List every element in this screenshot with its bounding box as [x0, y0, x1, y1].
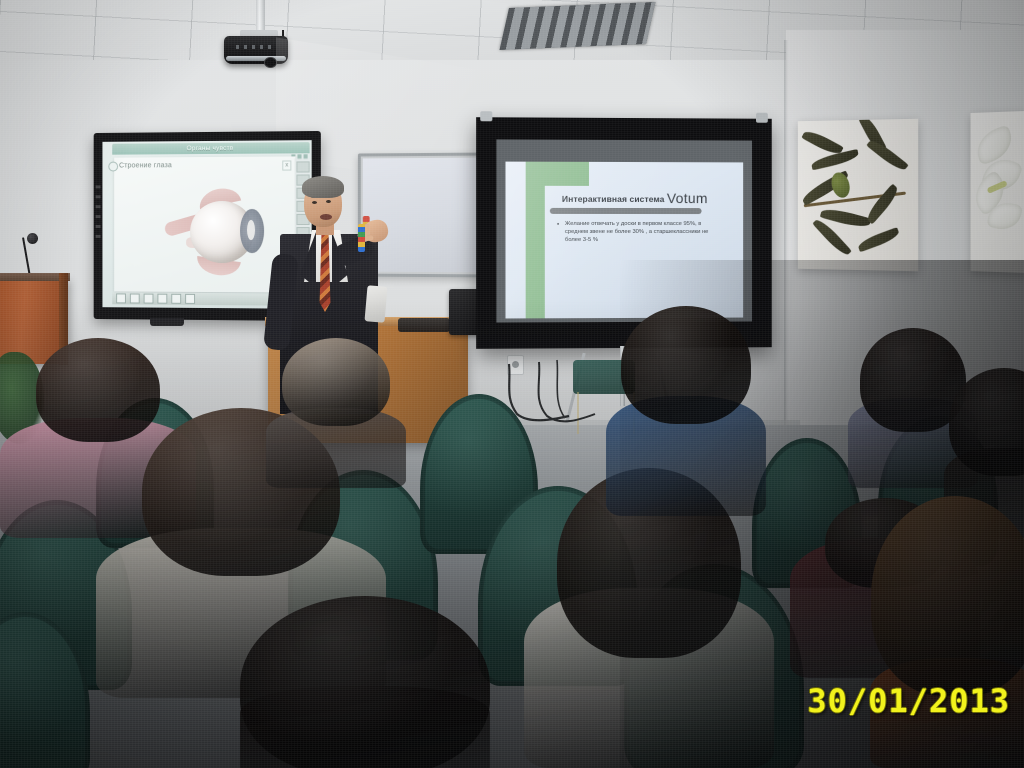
iwb-settings-icon[interactable] [185, 294, 195, 304]
white-lily-print [971, 111, 1024, 273]
close-icon[interactable]: x [282, 160, 291, 170]
iwb-heading-text: Строение глаза [119, 162, 172, 169]
slide-title-brand: Votum [667, 190, 708, 206]
attendee-head [949, 368, 1024, 476]
iwb-side-buttons[interactable] [96, 180, 101, 237]
screen-clip-left [480, 111, 492, 121]
ceiling-light-panel-icon [500, 2, 656, 50]
attendee-head [282, 338, 390, 426]
slide-accent-block [526, 162, 589, 186]
iwb-select-icon[interactable] [157, 294, 167, 304]
projector-indicator-lights [236, 45, 274, 49]
presenter-held-object [364, 285, 387, 323]
slide-bullet-text: Желание отвечать у доски в первом классе… [565, 220, 714, 245]
iwb-zoom-icon[interactable] [171, 294, 181, 304]
screen-clip-right [756, 113, 768, 123]
attendee-orange-scarf [870, 496, 1024, 768]
iwb-shape-icon[interactable] [144, 294, 154, 304]
iwb-pen-icon[interactable] [116, 293, 126, 303]
attendee-patterned-scarf [266, 338, 406, 488]
projector-icon [224, 36, 288, 64]
projector-lens [264, 57, 277, 68]
iwb-tool-icon[interactable] [296, 161, 309, 172]
olive-branch-print [798, 119, 918, 272]
microphone-icon [27, 233, 38, 244]
presenter-hair [302, 176, 344, 198]
iwb-eraser-icon[interactable] [130, 293, 140, 303]
iwb-pen-tray [150, 318, 184, 326]
slide-title-prefix: Интерактивная система [562, 194, 667, 204]
attendee-head [240, 596, 490, 768]
attendee-head [621, 306, 751, 424]
projected-slide: Интерактивная система Votum Желание отве… [505, 162, 743, 319]
power-outlet-icon [507, 355, 524, 375]
attendee-head [871, 496, 1024, 696]
marker-pens-icon [358, 224, 365, 252]
iwb-titlebar: Органы чувств [112, 142, 309, 154]
slide-divider-rule [550, 208, 702, 214]
iwb-document-heading: Строение глаза [119, 162, 172, 169]
attendee-dark-hair-front [240, 596, 490, 768]
slide-title: Интерактивная система Votum [562, 190, 735, 206]
photograph-conference-presentation: Органы чувств Строение глаза x [0, 0, 1024, 768]
projector-front-strip [226, 56, 286, 61]
iwb-heading-bullet-icon [108, 162, 118, 172]
presenter-gesturing-hand [362, 218, 390, 245]
attendee-blue-top [606, 306, 766, 516]
